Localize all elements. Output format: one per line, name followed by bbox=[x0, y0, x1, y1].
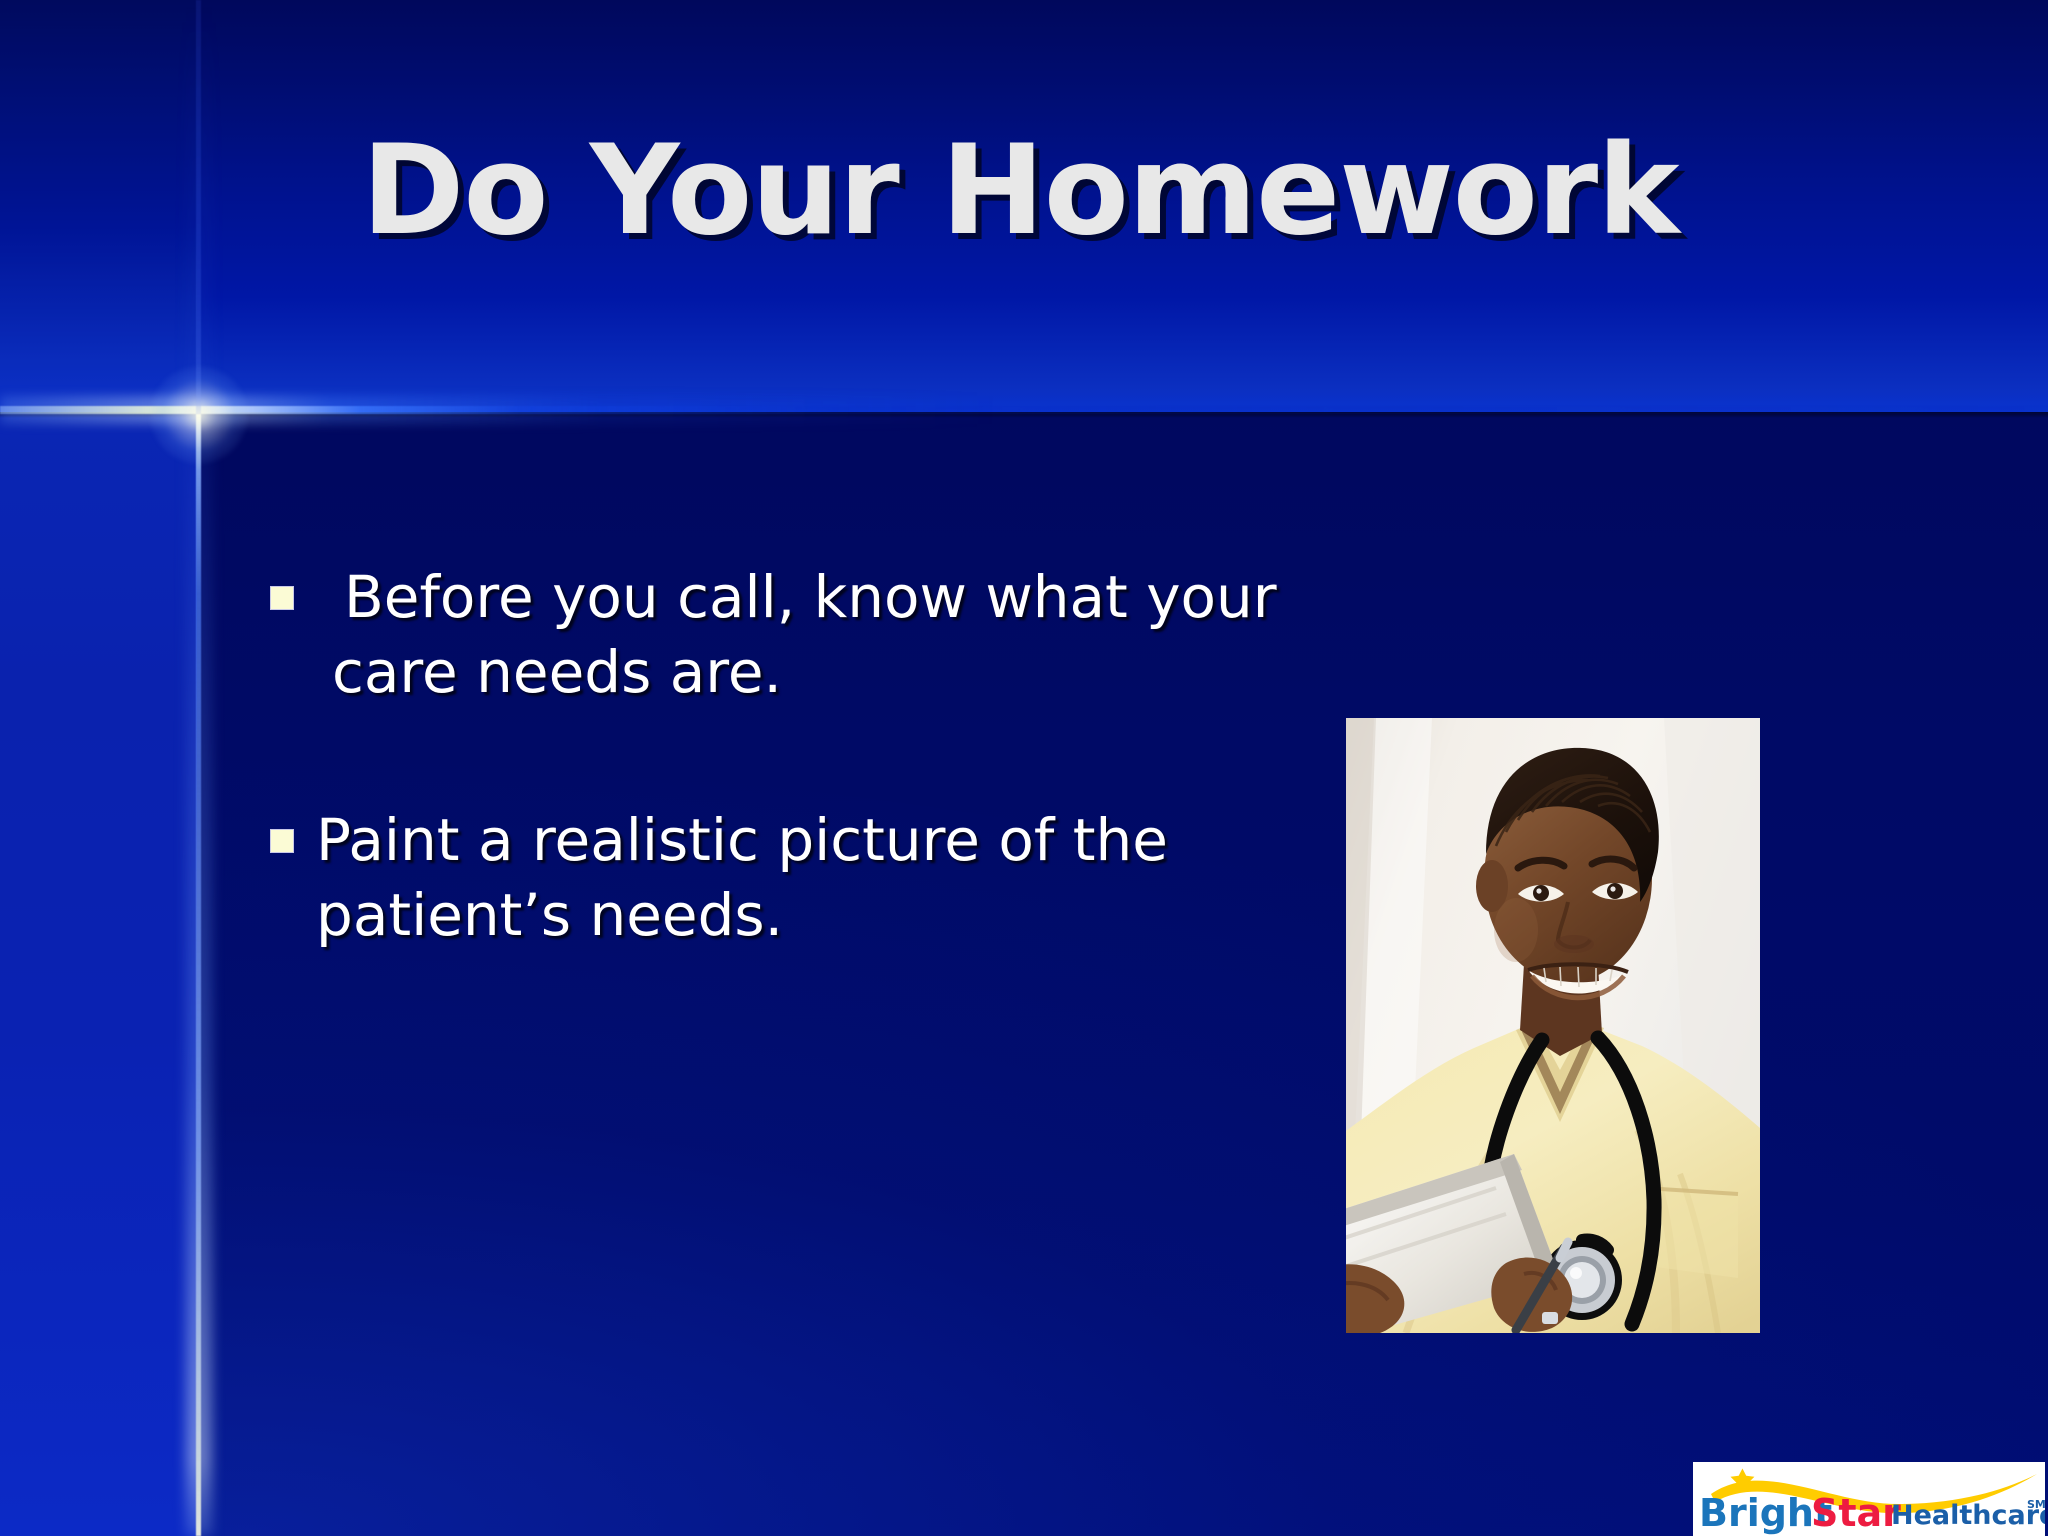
crosshair-flare bbox=[150, 366, 248, 464]
logo-service-mark: SM bbox=[2027, 1498, 2045, 1511]
slide-body: Before you call, know what your care nee… bbox=[270, 560, 1280, 954]
bullet-text: Before you call, know what your care nee… bbox=[316, 560, 1280, 711]
logo-word-healthcare: Healthcare bbox=[1891, 1500, 2045, 1531]
horizontal-accent-line bbox=[0, 406, 2048, 414]
vertical-accent-line-lower bbox=[196, 414, 201, 1536]
presentation-slide: Do Your Homework Before you call, know w… bbox=[0, 0, 2048, 1536]
logo-word-star: Star bbox=[1811, 1491, 1901, 1535]
square-bullet-icon bbox=[270, 829, 294, 853]
background-left-strip-lower bbox=[0, 412, 197, 1536]
background-left-strip-upper bbox=[0, 0, 197, 412]
square-bullet-icon bbox=[270, 586, 294, 610]
bullet-item: Before you call, know what your care nee… bbox=[270, 560, 1280, 711]
nurse-photo bbox=[1346, 718, 1760, 1333]
bullet-text: Paint a realistic picture of the patient… bbox=[316, 803, 1280, 954]
slide-title: Do Your Homework bbox=[170, 126, 1870, 256]
bullet-item: Paint a realistic picture of the patient… bbox=[270, 803, 1280, 954]
brightstar-healthcare-logo: Bright Star Healthcare SM bbox=[1693, 1462, 2045, 1536]
